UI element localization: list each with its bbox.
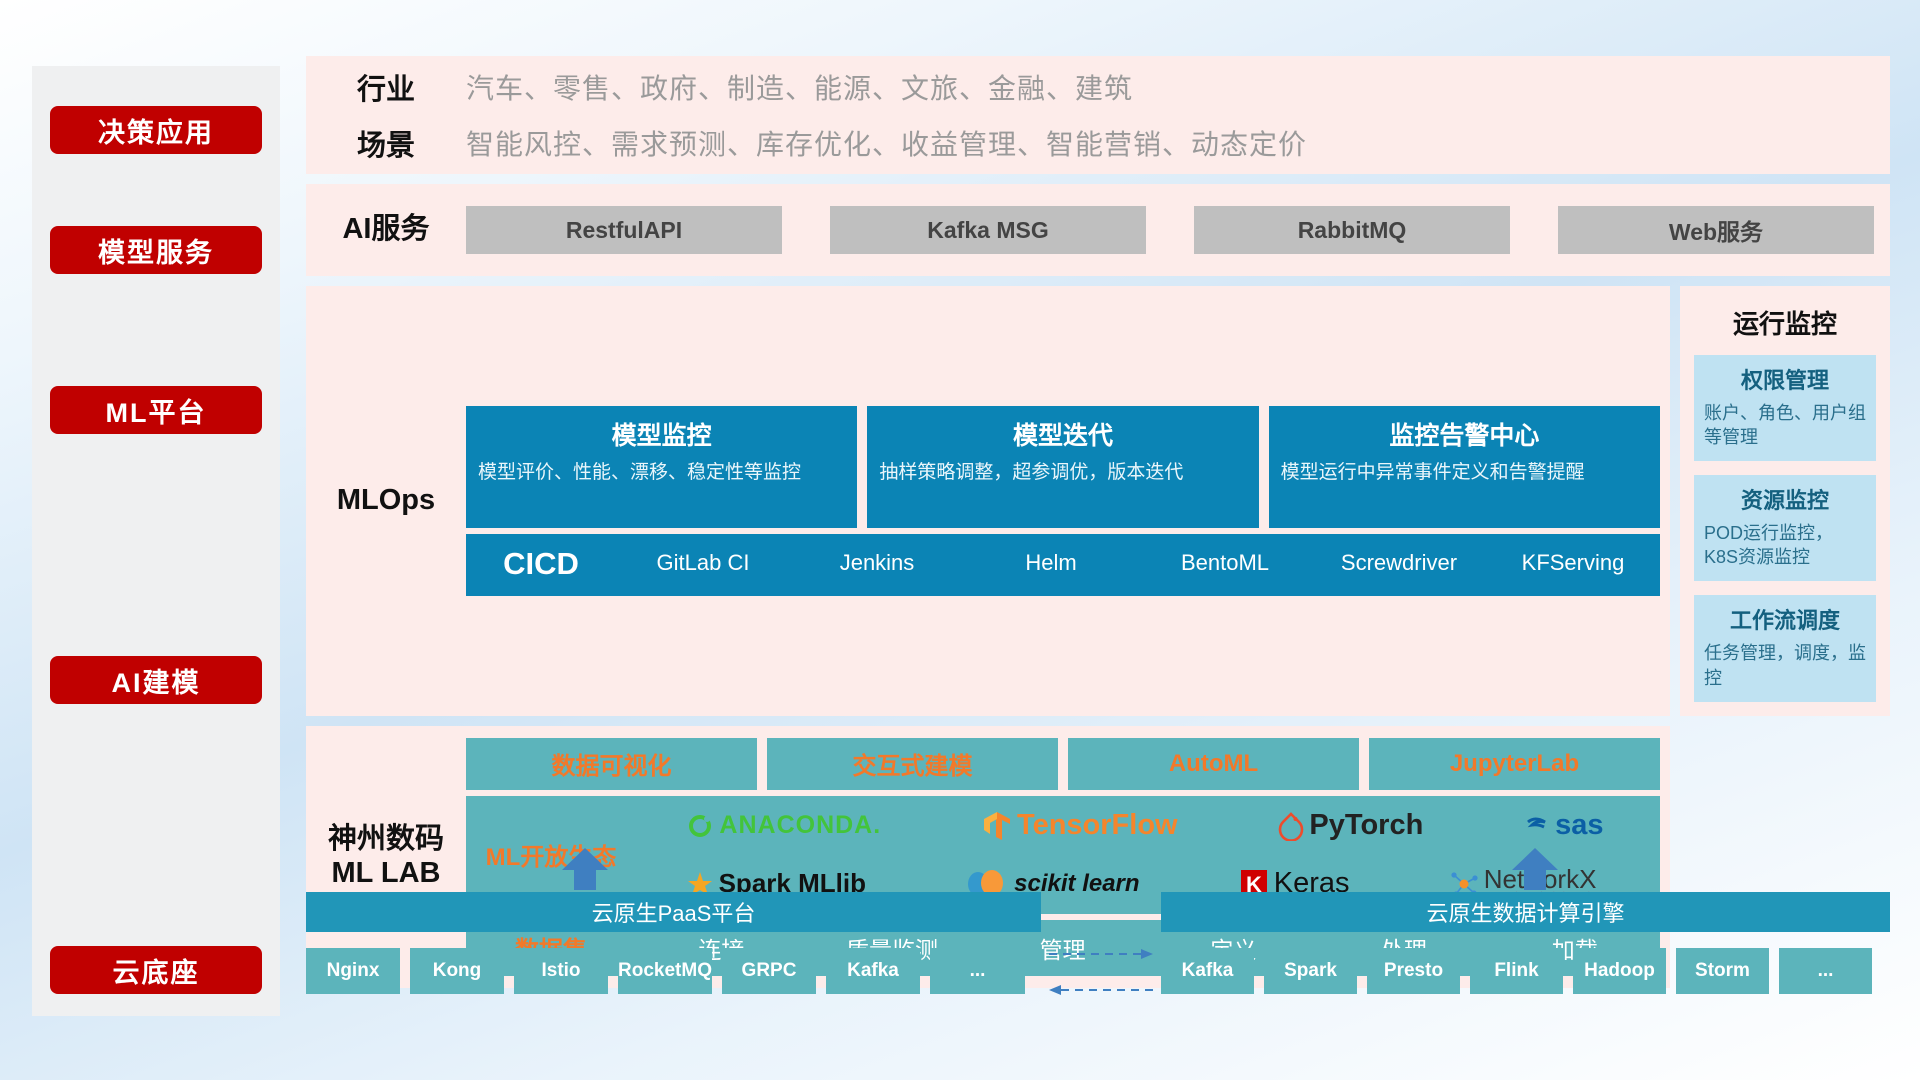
band-gap (306, 716, 1890, 726)
cicd-item-screwdriver[interactable]: Screwdriver (1312, 534, 1486, 577)
cicd-item-bentoml[interactable]: BentoML (1138, 534, 1312, 577)
cicd-bar: CICD GitLab CI Jenkins Helm BentoML Scre… (466, 534, 1660, 596)
ai-service-band: AI服务 RestfulAPI Kafka MSG RabbitMQ Web服务 (306, 184, 1890, 276)
chip-grpc[interactable]: GRPC (722, 948, 816, 994)
layer-chip-decision[interactable]: 决策应用 (50, 106, 262, 154)
monitor-card-workflow[interactable]: 工作流调度 任务管理，调度，监控 (1694, 595, 1876, 701)
chip-rocketmq[interactable]: RocketMQ (618, 948, 712, 994)
cicd-item-gitlab-ci[interactable]: GitLab CI (616, 534, 790, 577)
mlops-card-model-monitoring[interactable]: 模型监控 模型评价、性能、漂移、稳定性等监控 (466, 406, 857, 528)
layer-chip-ml-platform[interactable]: ML平台 (50, 386, 262, 434)
tool-box-jupyterlab[interactable]: JupyterLab (1369, 738, 1660, 790)
band-gap (306, 174, 1890, 184)
mlops-card-model-iteration[interactable]: 模型迭代 抽样策略调整，超参调优，版本迭代 (867, 406, 1258, 528)
cicd-item-kfserving[interactable]: KFServing (1486, 534, 1660, 577)
tensorflow-logo-text: TensorFlow (1017, 809, 1178, 842)
mlops-card-title: 模型监控 (478, 416, 845, 452)
pytorch-logo-text: PyTorch (1309, 809, 1423, 842)
mlops-card-desc: 模型运行中异常事件定义和告警提醒 (1281, 460, 1648, 485)
mlops-card-alert-center[interactable]: 监控告警中心 模型运行中异常事件定义和告警提醒 (1269, 406, 1660, 528)
bidirectional-link-icon (1041, 940, 1161, 1006)
chip-storm[interactable]: Storm (1676, 948, 1769, 994)
industry-value: 汽车、零售、政府、制造、能源、文旅、金融、建筑 (466, 67, 1133, 107)
chip-more-engine[interactable]: ... (1779, 948, 1872, 994)
monitor-card-desc: 任务管理，调度，监控 (1704, 641, 1866, 689)
monitor-card-resource[interactable]: 资源监控 POD运行监控，K8S资源监控 (1694, 475, 1876, 581)
chip-hadoop[interactable]: Hadoop (1573, 948, 1666, 994)
ai-service-box-restfulapi[interactable]: RestfulAPI (466, 206, 782, 254)
layer-chip-ai-modeling[interactable]: AI建模 (50, 656, 262, 704)
cicd-title: CICD (466, 534, 616, 582)
arrow-up-right-icon (1506, 848, 1564, 890)
chip-flink[interactable]: Flink (1470, 948, 1563, 994)
layer-rail: 决策应用 模型服务 ML平台 AI建模 云底座 (32, 66, 280, 1016)
scenario-row: 场景 智能风控、需求预测、库存优化、收益管理、智能营销、动态定价 (306, 122, 1890, 164)
mlops-key: MLOps (306, 484, 466, 517)
monitor-card-desc: POD运行监控，K8S资源监控 (1704, 521, 1866, 569)
mlops-band: MLOps 模型监控 模型评价、性能、漂移、稳定性等监控 模型迭代 抽样策略调整… (306, 286, 1670, 716)
chip-istio[interactable]: Istio (514, 948, 608, 994)
layer-chip-cloud-base[interactable]: 云底座 (50, 946, 262, 994)
band-gap (306, 276, 1890, 286)
tool-box-data-visualization[interactable]: 数据可视化 (466, 738, 757, 790)
tensorflow-logo: TensorFlow (982, 809, 1178, 842)
pytorch-logo: PyTorch (1278, 809, 1423, 842)
cloud-data-engine-bar[interactable]: 云原生数据计算引擎 (1161, 892, 1890, 932)
scenario-value: 智能风控、需求预测、库存优化、收益管理、智能营销、动态定价 (466, 123, 1307, 163)
tool-box-automl[interactable]: AutoML (1068, 738, 1359, 790)
industry-key: 行业 (306, 66, 466, 108)
monitor-card-title: 资源监控 (1704, 483, 1866, 515)
monitor-card-permission[interactable]: 权限管理 账户、角色、用户组等管理 (1694, 355, 1876, 461)
cicd-item-jenkins[interactable]: Jenkins (790, 534, 964, 577)
chip-more[interactable]: ... (930, 948, 1025, 994)
cloud-base-area: 云原生PaaS平台 云原生数据计算引擎 Nginx Kong Istio Roc… (306, 880, 1890, 1040)
sas-logo: sas (1524, 809, 1603, 842)
anaconda-logo: ANACONDA. (686, 811, 881, 840)
monitor-card-desc: 账户、角色、用户组等管理 (1704, 401, 1866, 449)
ecosystem-logo-row-1: ANACONDA. TensorFlow (636, 798, 1654, 854)
tool-box-interactive-modeling[interactable]: 交互式建模 (767, 738, 1058, 790)
paas-chip-row: Nginx Kong Istio RocketMQ GRPC Kafka ... (306, 948, 1041, 994)
mlops-card-desc: 抽样策略调整，超参调优，版本迭代 (879, 460, 1246, 485)
chip-kafka[interactable]: Kafka (826, 948, 920, 994)
chip-kafka-engine[interactable]: Kafka (1161, 948, 1254, 994)
industry-scenario-band: 行业 汽车、零售、政府、制造、能源、文旅、金融、建筑 场景 智能风控、需求预测、… (306, 56, 1890, 174)
runtime-monitor-column: 运行监控 权限管理 账户、角色、用户组等管理 资源监控 POD运行监控，K8S资… (1680, 286, 1890, 716)
ai-service-box-kafka-msg[interactable]: Kafka MSG (830, 206, 1146, 254)
monitor-card-title: 工作流调度 (1704, 603, 1866, 635)
mlops-card-desc: 模型评价、性能、漂移、稳定性等监控 (478, 460, 845, 485)
sas-logo-text: sas (1555, 809, 1603, 842)
architecture-main: 行业 汽车、零售、政府、制造、能源、文旅、金融、建筑 场景 智能风控、需求预测、… (306, 56, 1890, 988)
ml-lab-key-line1: 神州数码 (306, 823, 466, 856)
cloud-paas-bar[interactable]: 云原生PaaS平台 (306, 892, 1041, 932)
anaconda-logo-text: ANACONDA. (719, 811, 881, 840)
ai-service-box-rabbitmq[interactable]: RabbitMQ (1194, 206, 1510, 254)
industry-row: 行业 汽车、零售、政府、制造、能源、文旅、金融、建筑 (306, 66, 1890, 108)
mlops-card-title: 监控告警中心 (1281, 416, 1648, 452)
layer-chip-model-serving[interactable]: 模型服务 (50, 226, 262, 274)
monitor-card-title: 权限管理 (1704, 363, 1866, 395)
mlops-card-title: 模型迭代 (879, 416, 1246, 452)
scenario-key: 场景 (306, 122, 466, 164)
chip-kong[interactable]: Kong (410, 948, 504, 994)
runtime-monitor-title: 运行监控 (1680, 286, 1890, 355)
chip-spark[interactable]: Spark (1264, 948, 1357, 994)
ai-service-box-web[interactable]: Web服务 (1558, 206, 1874, 254)
ai-service-key: AI服务 (306, 213, 466, 246)
data-engine-chip-row: Kafka Spark Presto Flink Hadoop Storm ..… (1161, 948, 1890, 994)
chip-presto[interactable]: Presto (1367, 948, 1460, 994)
arrow-up-left-icon (556, 848, 614, 890)
ml-platform-row: MLOps 模型监控 模型评价、性能、漂移、稳定性等监控 模型迭代 抽样策略调整… (306, 286, 1890, 716)
chip-nginx[interactable]: Nginx (306, 948, 400, 994)
cicd-item-helm[interactable]: Helm (964, 534, 1138, 577)
